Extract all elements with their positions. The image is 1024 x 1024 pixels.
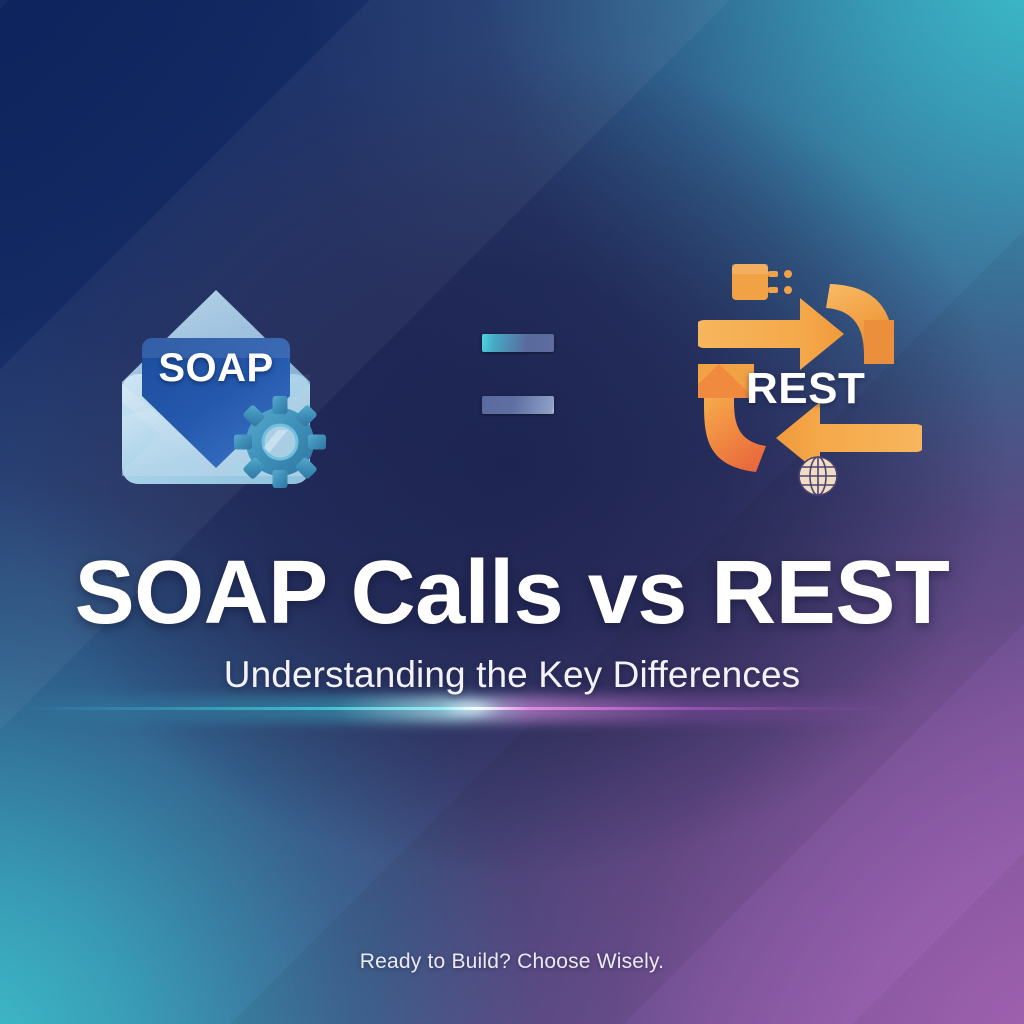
envelope-icon xyxy=(104,266,328,496)
arrow-left xyxy=(776,402,922,474)
equals-bar-bottom xyxy=(482,396,554,414)
gear-icon xyxy=(234,396,326,488)
equals-divider xyxy=(440,330,600,430)
rest-icon-group: REST xyxy=(698,260,922,498)
globe-icon xyxy=(799,457,837,495)
api-plug-icon xyxy=(732,264,792,300)
arrow-curve-left xyxy=(704,394,766,472)
soap-icon-group: SOAP xyxy=(104,266,328,496)
page-title: SOAP Calls vs REST xyxy=(0,548,1024,640)
arrow-right xyxy=(698,298,844,370)
equals-bar-top xyxy=(482,334,554,352)
page-subtitle: Understanding the Key Differences xyxy=(0,654,1024,696)
page-footer-cta: Ready to Build? Choose Wisely. xyxy=(0,950,1024,974)
poster-canvas: SOAP xyxy=(0,0,1024,1024)
circular-arrows-icon xyxy=(698,260,922,498)
